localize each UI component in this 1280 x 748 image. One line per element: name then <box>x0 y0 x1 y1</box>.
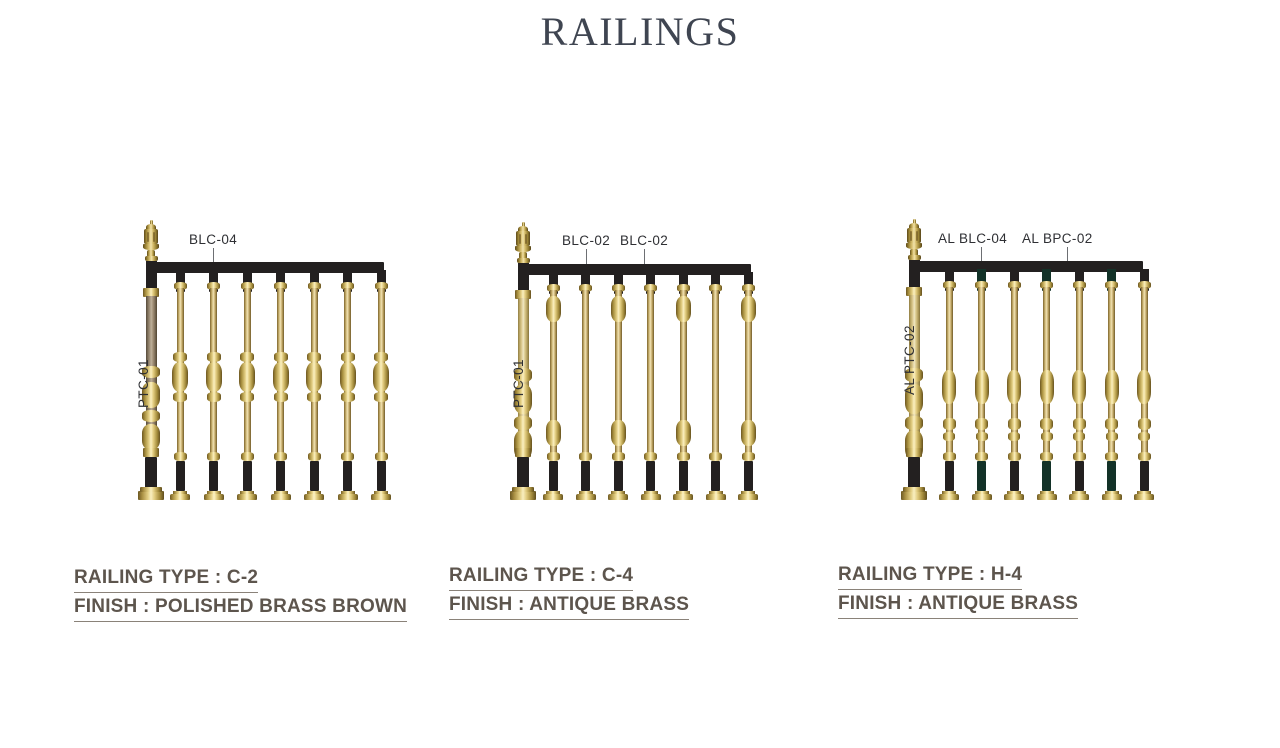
baluster-bottom-sleeve <box>1140 461 1149 491</box>
baluster-ornament <box>975 418 988 430</box>
caption-railing-h4: RAILING TYPE : H-4FINISH : ANTIQUE BRASS <box>838 562 1078 620</box>
baluster-bottom-collar <box>1138 452 1151 461</box>
baluster-bottom-sleeve <box>1042 461 1051 491</box>
baluster-bottom-collar <box>975 452 988 461</box>
baluster-ornament <box>1137 370 1151 404</box>
baluster-ornament <box>1105 418 1118 430</box>
baluster-ornament <box>1041 432 1053 441</box>
baluster-bottom-sleeve <box>1010 461 1019 491</box>
caption-railing-c4: RAILING TYPE : C-4FINISH : ANTIQUE BRASS <box>449 563 689 621</box>
baluster-foot <box>1134 494 1154 500</box>
baluster-ornament <box>1073 432 1085 441</box>
baluster-foot <box>939 494 959 500</box>
railing-h4: AL BLC-04AL BPC-02AL PTC-02 <box>0 0 1280 748</box>
baluster-bottom-collar <box>943 452 956 461</box>
drawing-canvas: RAILINGS BLC-04PTC-01BLC-02BLC-02PTC-01A… <box>0 0 1280 748</box>
newel-ornament-2 <box>905 416 923 430</box>
part-label-1: AL BLC-04 <box>938 231 1007 246</box>
newel-plinth-upper <box>903 487 925 492</box>
baluster-ornament <box>1073 418 1086 430</box>
baluster-bottom-collar <box>1040 452 1053 461</box>
baluster-foot <box>1069 494 1089 500</box>
caption-finish: FINISH : POLISHED BRASS BROWN <box>74 594 407 622</box>
caption-railing-type: RAILING TYPE : C-4 <box>449 563 633 591</box>
baluster-ornament <box>1106 432 1118 441</box>
vertical-part-label: AL PTC-02 <box>902 325 917 395</box>
baluster-ornament <box>976 432 988 441</box>
leader-line-2 <box>1067 247 1068 261</box>
caption-railing-type: RAILING TYPE : H-4 <box>838 562 1022 590</box>
part-label-2: AL BPC-02 <box>1022 231 1093 246</box>
baluster-ornament <box>942 370 956 404</box>
baluster-ornament <box>1007 370 1021 404</box>
finial-body-detail <box>916 231 918 241</box>
baluster-foot <box>972 494 992 500</box>
leader-line-1 <box>981 247 982 261</box>
baluster-ornament <box>1008 418 1021 430</box>
baluster-bottom-sleeve <box>1107 461 1116 491</box>
baluster-bottom-sleeve <box>1075 461 1084 491</box>
baluster-ornament <box>1072 370 1086 404</box>
baluster-bottom-sleeve <box>945 461 954 491</box>
newel-plinth <box>901 491 927 500</box>
baluster-foot <box>1037 494 1057 500</box>
baluster-ornament <box>1138 432 1150 441</box>
baluster-ornament <box>943 432 955 441</box>
newel-lower-collar <box>906 448 922 457</box>
caption-finish: FINISH : ANTIQUE BRASS <box>449 592 689 620</box>
baluster-bottom-sleeve <box>977 461 986 491</box>
baluster-ornament <box>1040 418 1053 430</box>
baluster-foot <box>1102 494 1122 500</box>
baluster-bottom-collar <box>1105 452 1118 461</box>
finial-body-detail <box>910 231 912 241</box>
baluster-ornament <box>943 418 956 430</box>
baluster-ornament <box>1105 370 1119 404</box>
caption-finish: FINISH : ANTIQUE BRASS <box>838 591 1078 619</box>
baluster-ornament <box>975 370 989 404</box>
baluster-ornament <box>1138 418 1151 430</box>
baluster-ornament <box>1040 370 1054 404</box>
caption-railing-type: RAILING TYPE : C-2 <box>74 565 258 593</box>
baluster-foot <box>1004 494 1024 500</box>
baluster-ornament <box>1008 432 1020 441</box>
baluster-bottom-collar <box>1008 452 1021 461</box>
baluster-bottom-collar <box>1073 452 1086 461</box>
caption-railing-c2: RAILING TYPE : C-2FINISH : POLISHED BRAS… <box>74 565 407 623</box>
